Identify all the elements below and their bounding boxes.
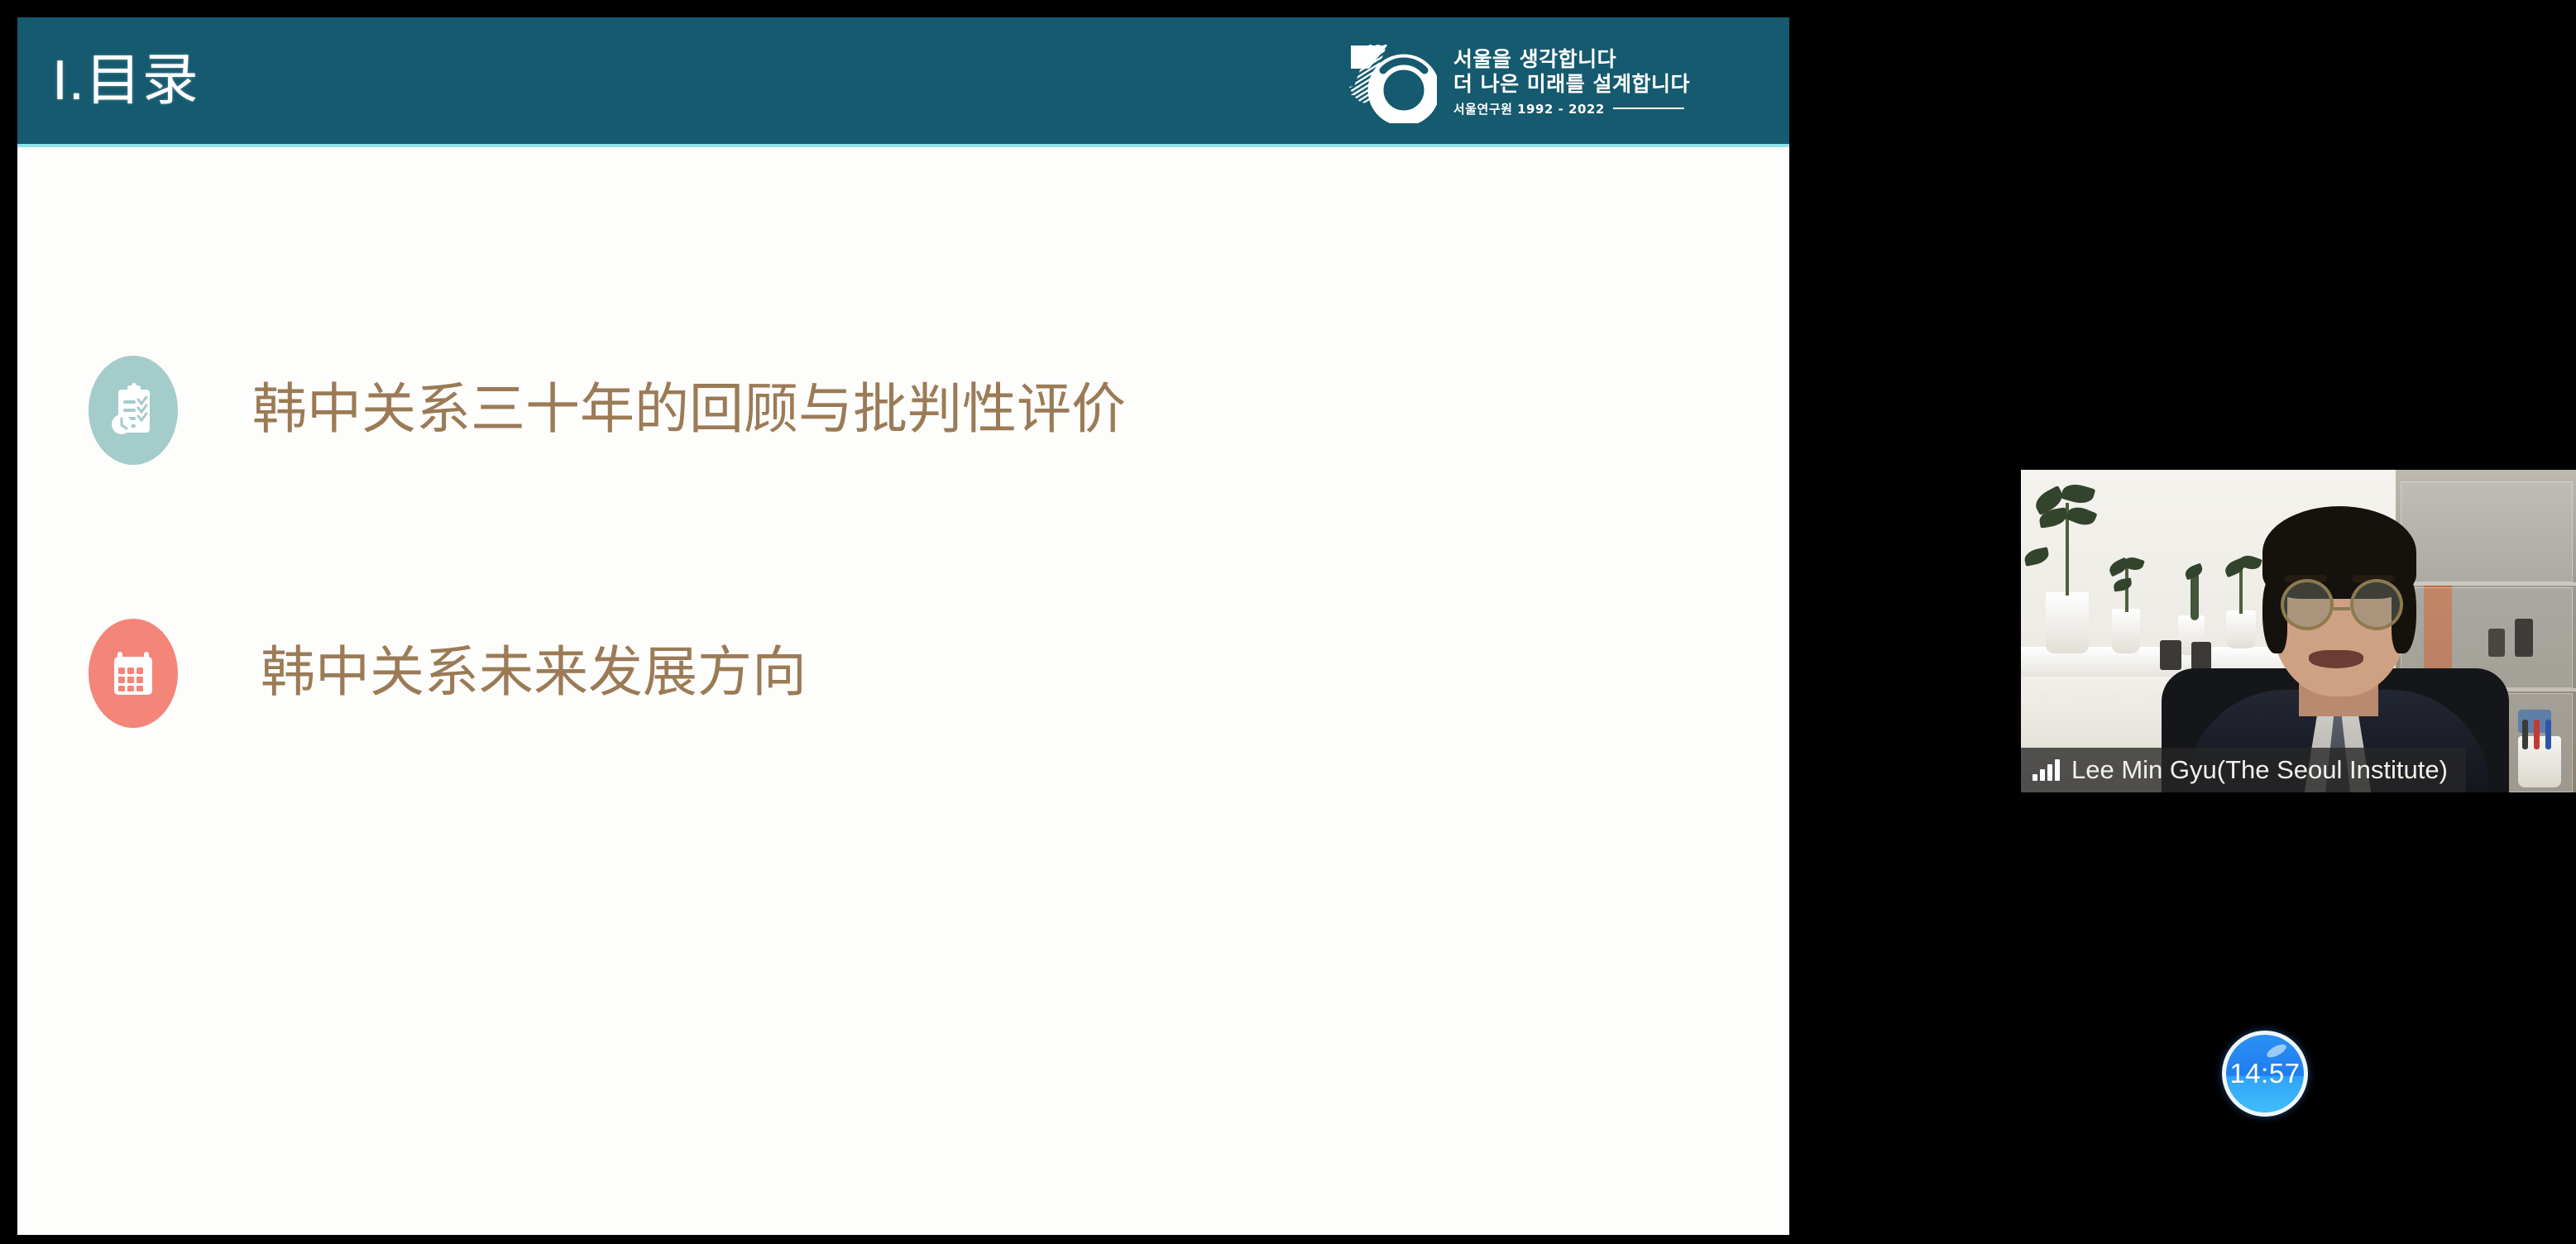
page-title: I.目录 — [52, 39, 199, 122]
clipboard-checklist-clock-icon — [89, 356, 178, 465]
meeting-timer-badge[interactable]: 14:57 — [2222, 1031, 2308, 1117]
participant-video-tile[interactable]: Lee Min Gyu(The Seoul Institute) — [2021, 470, 2576, 792]
institute-logo: 서울을 생각합니다 더 나은 미래를 설계합니다 서울연구원 1992 - 20… — [1344, 36, 1690, 128]
video-feed — [2021, 470, 2576, 792]
logo-line-1: 서울을 생각합니다 — [1453, 47, 1690, 72]
list-item: 韩中关系未来发展方向 — [89, 619, 807, 728]
list-item-label: 韩中关系未来发展方向 — [261, 646, 807, 701]
agenda-list: 韩中关系三十年的回顾与批判性评价 — [17, 147, 1789, 1235]
logo-text-block: 서울을 생각합니다 더 나은 미래를 설계합니다 서울연구원 1992 - 20… — [1453, 47, 1690, 117]
audio-signal-bars-icon — [2033, 759, 2060, 781]
shared-slide: I.目录 서울을 생각합니다 더 나은 미래를 설계합니다 서울연구원 — [17, 17, 1789, 1235]
logo-line-2: 더 나은 미래를 설계합니다 — [1453, 72, 1690, 97]
logo-subtitle: 서울연구원 1992 - 2022 — [1453, 100, 1605, 117]
meeting-timer-value: 14:57 — [2229, 1058, 2300, 1089]
participant-name: Lee Min Gyu(The Seoul Institute) — [2071, 755, 2448, 785]
presentation-stage: I.目录 서울을 생각합니다 더 나은 미래를 설계합니다 서울연구원 — [0, 0, 2576, 1244]
list-item-label: 韩中关系三十年的回顾与批判性评价 — [252, 383, 1126, 438]
list-item: 韩中关系三十年的回顾与批判性评价 — [89, 356, 1126, 465]
anniversary-30-mark — [1344, 41, 1437, 123]
logo-subtitle-row: 서울연구원 1992 - 2022 — [1453, 100, 1690, 117]
logo-rule — [1613, 108, 1684, 109]
calendar-icon — [89, 619, 178, 728]
participant-name-strip: Lee Min Gyu(The Seoul Institute) — [2021, 748, 2466, 792]
